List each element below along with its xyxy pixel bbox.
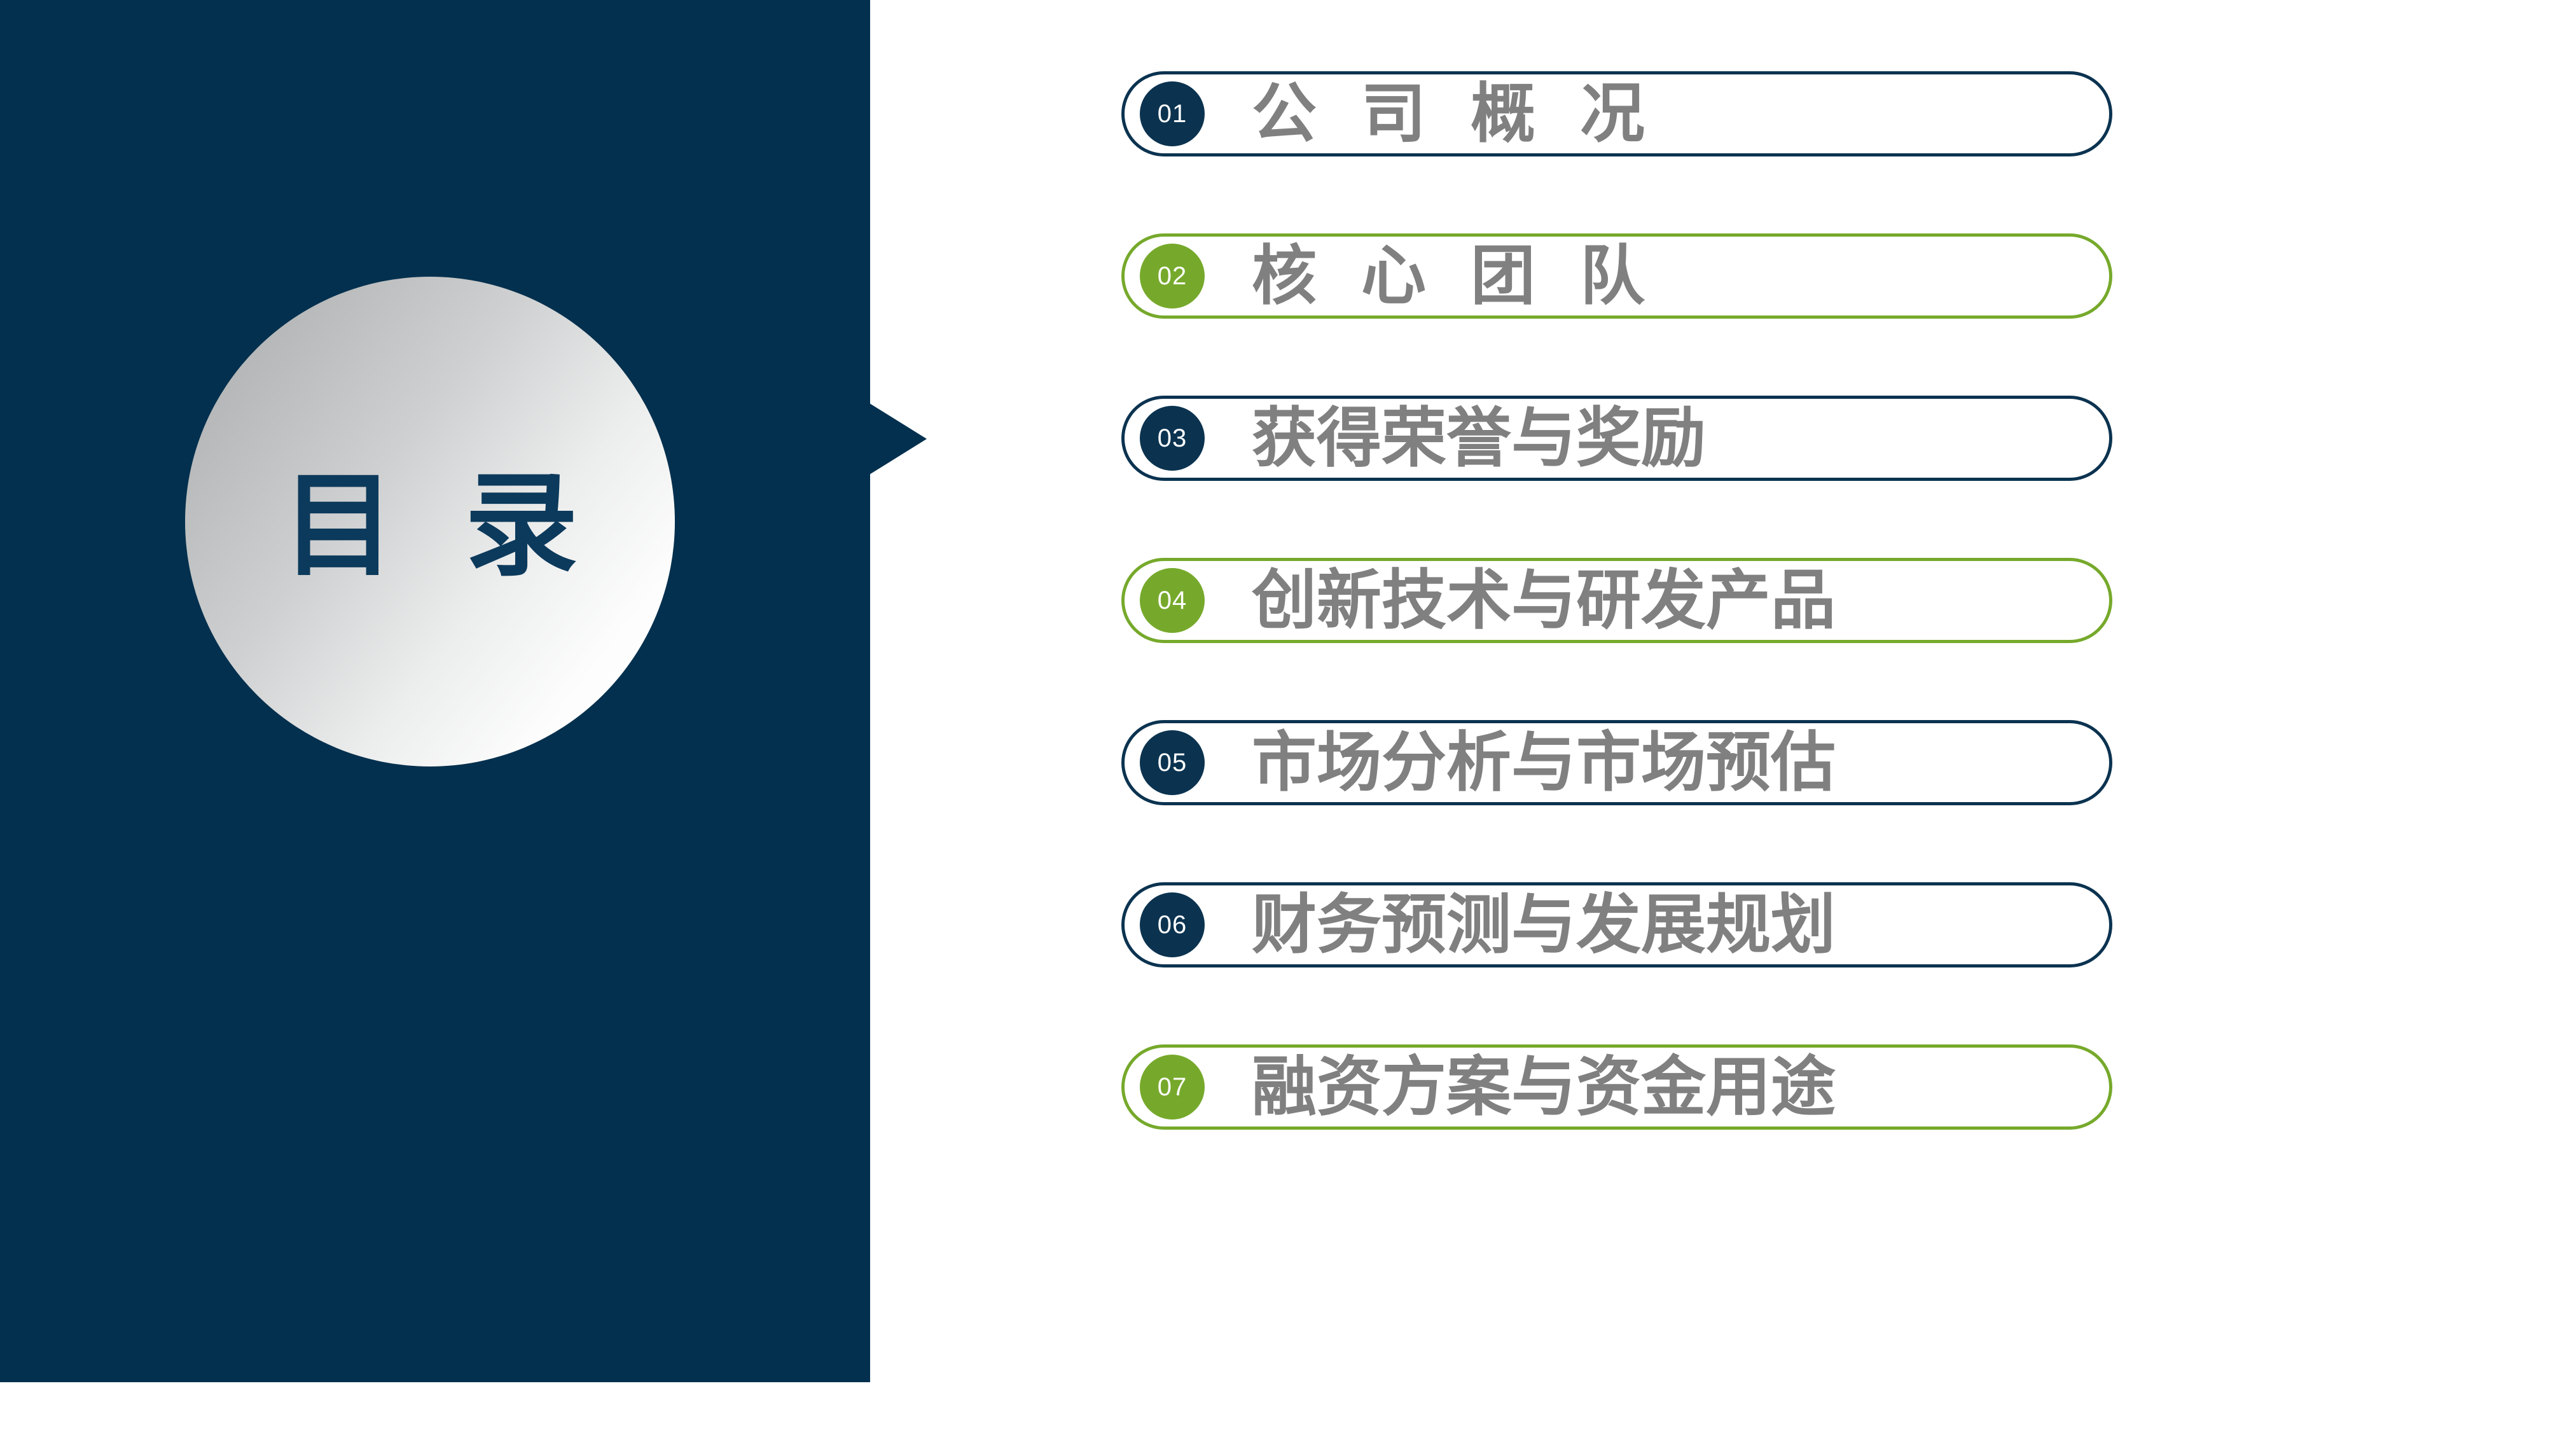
list-item[interactable]: 01 公司概况 <box>1121 71 2112 156</box>
toc-item-label: 市场分析与市场预估 <box>1252 730 1836 795</box>
list-item[interactable]: 03 获得荣誉与奖励 <box>1121 396 2112 481</box>
toc-heading-circle: 目 录 <box>185 277 675 766</box>
list-item[interactable]: 05 市场分析与市场预估 <box>1121 720 2112 805</box>
list-item[interactable]: 06 财务预测与发展规划 <box>1121 882 2112 967</box>
list-item[interactable]: 04 创新技术与研发产品 <box>1121 558 2112 643</box>
toc-item-label: 融资方案与资金用途 <box>1252 1055 1836 1120</box>
toc-item-label: 核心团队 <box>1252 244 1689 309</box>
list-item[interactable]: 07 融资方案与资金用途 <box>1121 1044 2112 1130</box>
toc-item-number-badge: 02 <box>1140 244 1205 309</box>
toc-item-number-badge: 04 <box>1140 568 1205 633</box>
toc-item-number-badge: 07 <box>1140 1055 1205 1120</box>
toc-item-label: 获得荣誉与奖励 <box>1252 406 1706 471</box>
table-of-contents-list: 01 公司概况 02 核心团队 03 获得荣誉与奖励 04 创新技术与研发产品 … <box>1121 71 2112 1130</box>
toc-item-number-badge: 01 <box>1140 81 1205 146</box>
list-item[interactable]: 02 核心团队 <box>1121 233 2112 319</box>
toc-item-label: 财务预测与发展规划 <box>1252 892 1836 957</box>
toc-item-number-badge: 06 <box>1140 892 1205 957</box>
toc-item-number-badge: 05 <box>1140 730 1205 795</box>
toc-item-number-badge: 03 <box>1140 406 1205 471</box>
left-navy-panel: 目 录 <box>0 0 870 1382</box>
toc-item-label: 公司概况 <box>1252 81 1689 146</box>
page-title: 目 录 <box>185 277 675 766</box>
toc-item-label: 创新技术与研发产品 <box>1252 568 1836 633</box>
right-arrow-icon <box>869 403 927 475</box>
